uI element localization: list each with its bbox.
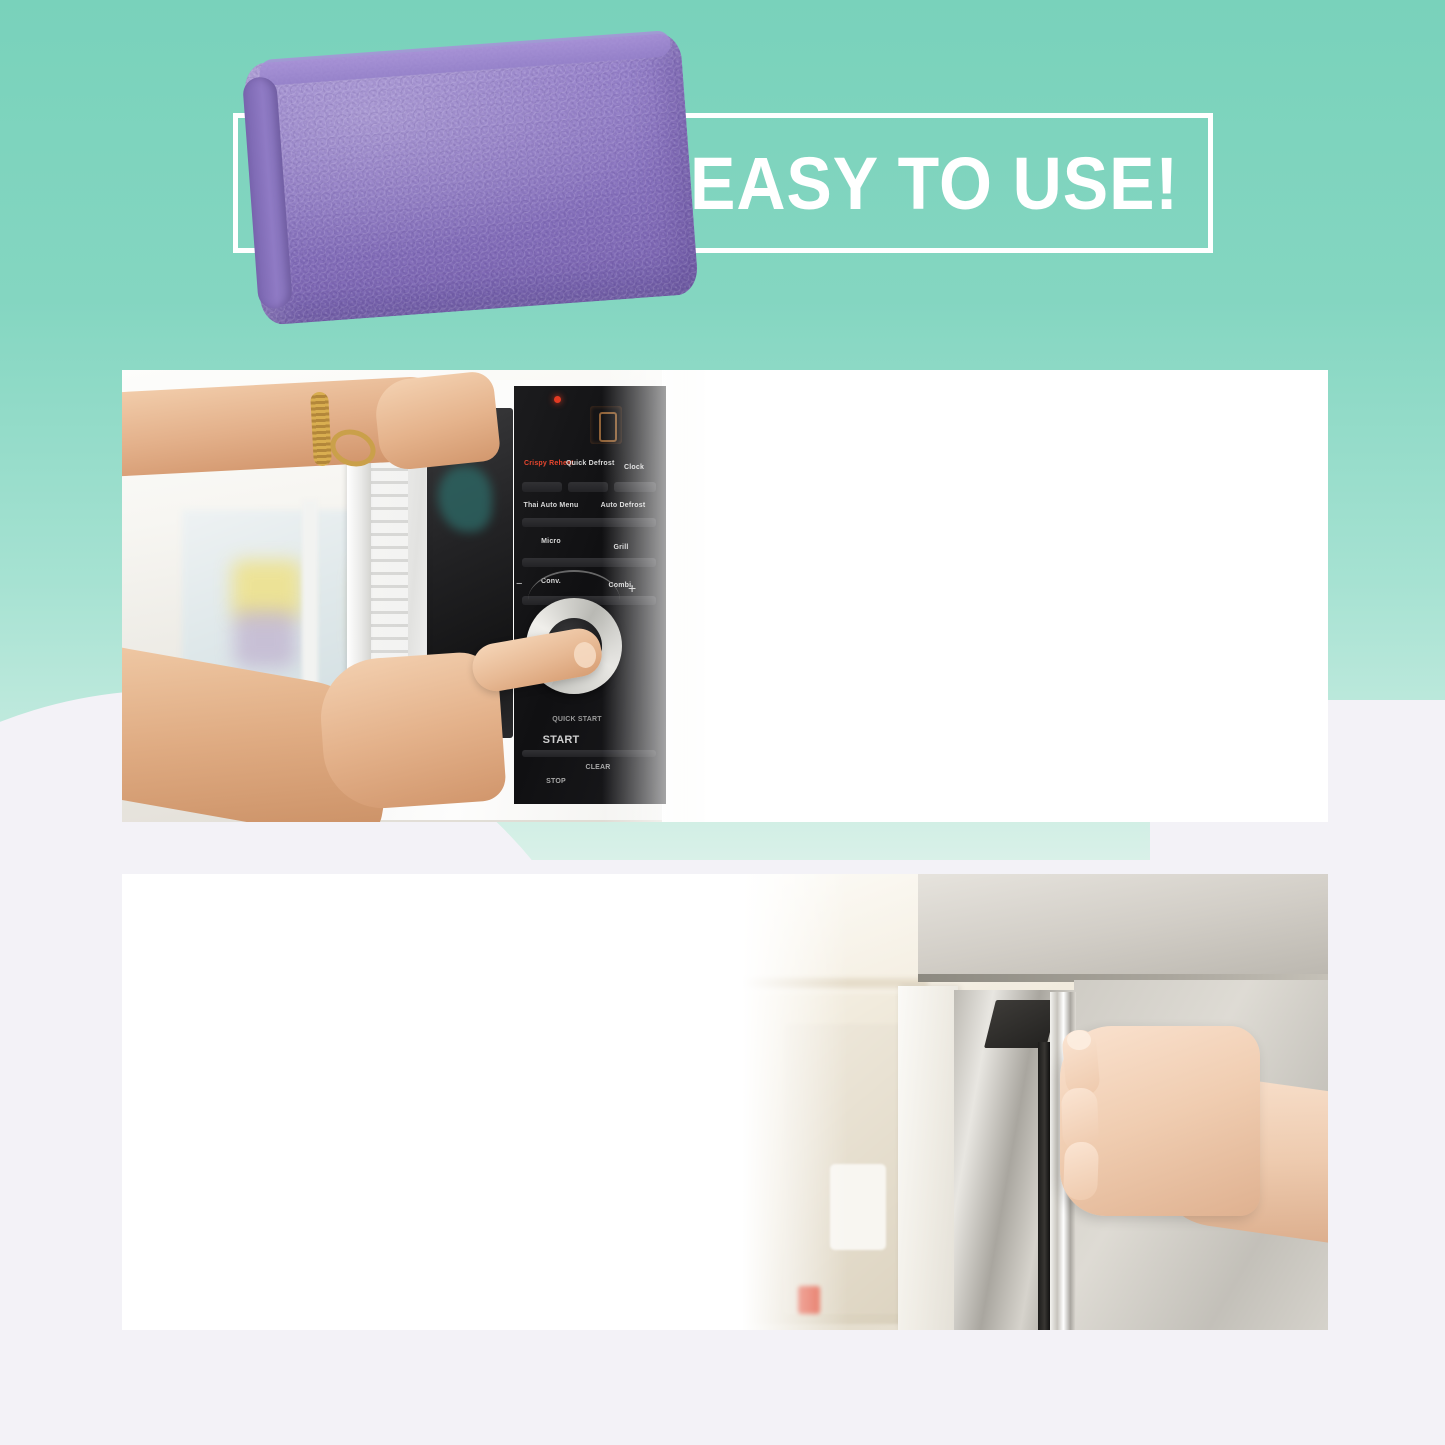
fridge-handle-cap	[984, 1000, 1058, 1048]
microwave-button-1[interactable]	[522, 482, 562, 492]
gold-bracelet	[310, 392, 332, 467]
section-card-microwave: Crispy Reheat Quick Defrost Clock Thai A…	[122, 370, 1328, 822]
section-card-freezer: CHILL IN THE FREEZER Relieve injured mus…	[122, 874, 1328, 1330]
fridge-handle-shadow	[1038, 1042, 1050, 1330]
photo-fade-left	[728, 874, 848, 1330]
freezer-fingernail	[1067, 1030, 1091, 1050]
microwave-label-start[interactable]: START	[536, 734, 586, 746]
microwave-label-stop[interactable]: STOP	[534, 778, 578, 785]
fridge-door-white-edge	[898, 986, 958, 1330]
kitchen-blur-lilac	[234, 610, 296, 668]
microwave-dial-minus-label: −	[516, 578, 522, 590]
product-image-heat-pack	[243, 32, 699, 325]
infographic-stage: EASY TO USE! Crispy Reheat	[0, 0, 1445, 1445]
microwave-label-crispy-reheat[interactable]: Crispy Reheat	[524, 460, 562, 467]
microwave-label-thai-auto-menu[interactable]: Thai Auto Menu	[520, 502, 582, 509]
microwave-indicator-led	[554, 396, 561, 403]
freezer-finger-3	[1063, 1141, 1099, 1200]
photo-freezer	[728, 874, 1328, 1330]
photo-microwave: Crispy Reheat Quick Defrost Clock Thai A…	[122, 370, 722, 822]
upper-hand-on-door	[373, 370, 502, 472]
page-title: EASY TO USE!	[690, 136, 1168, 232]
photo-fade-right	[602, 370, 722, 822]
fridge-top-panel	[918, 874, 1328, 980]
microwave-label-micro[interactable]: Micro	[528, 538, 574, 545]
